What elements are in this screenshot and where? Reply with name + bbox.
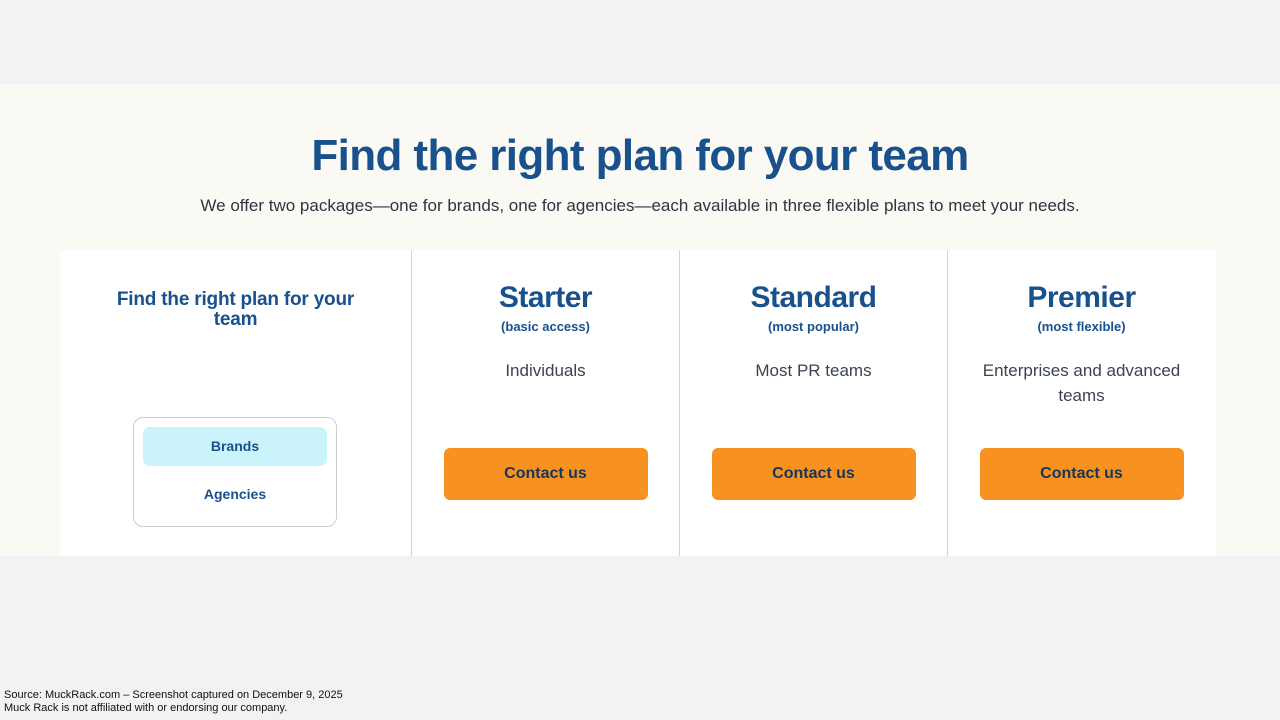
pricing-page: Find the right plan for your team We off… bbox=[0, 0, 1280, 720]
plan-tag-premier: (most flexible) bbox=[948, 318, 1215, 336]
plan-tag-starter: (basic access) bbox=[412, 318, 679, 336]
toggle-column-title: Find the right plan for your team bbox=[106, 280, 366, 330]
pricing-table: Find the right plan for your team Brands… bbox=[60, 250, 1216, 556]
page-title: Find the right plan for your team bbox=[0, 130, 1280, 182]
contact-us-button-starter[interactable]: Contact us bbox=[444, 448, 648, 500]
source-line-2: Muck Rack is not affiliated with or endo… bbox=[4, 702, 343, 715]
plan-column-standard: Standard (most popular) Most PR teams Co… bbox=[679, 250, 947, 556]
plan-name-standard: Standard bbox=[680, 280, 947, 316]
source-attribution: Source: MuckRack.com – Screenshot captur… bbox=[4, 689, 343, 715]
plan-column-premier: Premier (most flexible) Enterprises and … bbox=[947, 250, 1215, 556]
plan-description-premier: Enterprises and advanced teams bbox=[972, 358, 1192, 408]
plan-description-starter: Individuals bbox=[436, 358, 656, 383]
plan-name-premier: Premier bbox=[948, 280, 1215, 316]
contact-us-button-standard[interactable]: Contact us bbox=[712, 448, 916, 500]
plan-name-starter: Starter bbox=[412, 280, 679, 316]
package-toggle-group[interactable]: Brands Agencies bbox=[133, 417, 337, 527]
plan-tag-standard: (most popular) bbox=[680, 318, 947, 336]
top-background-band bbox=[0, 0, 1280, 84]
package-toggle-column: Find the right plan for your team Brands… bbox=[60, 250, 411, 556]
plan-column-starter: Starter (basic access) Individuals Conta… bbox=[411, 250, 679, 556]
toggle-option-brands[interactable]: Brands bbox=[143, 427, 327, 466]
plan-description-standard: Most PR teams bbox=[704, 358, 924, 383]
page-subtitle: We offer two packages—one for brands, on… bbox=[0, 194, 1280, 218]
source-line-1: Source: MuckRack.com – Screenshot captur… bbox=[4, 689, 343, 702]
toggle-option-agencies[interactable]: Agencies bbox=[143, 475, 327, 514]
contact-us-button-premier[interactable]: Contact us bbox=[980, 448, 1184, 500]
